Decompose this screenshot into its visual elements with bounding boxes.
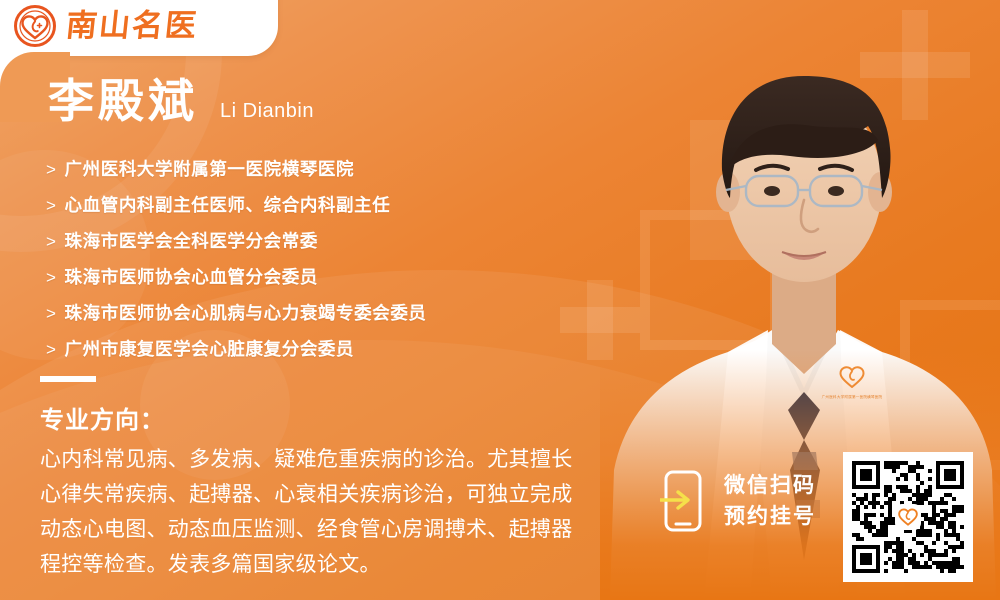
credential-text: 珠海市医师协会心肌病与心力衰竭专委会委员 [65,297,427,332]
phone-scan-arrow-icon [660,470,706,532]
doctor-name-row: 李殿斌 Li Dianbin [48,78,314,124]
section-divider [40,376,96,382]
credential-text: 广州医科大学附属第一医院横琴医院 [65,153,355,188]
bullet-marker: > [46,188,57,223]
doctor-profile-card: 广州医科大学附属第一医院横琴医院 南山名医 李殿斌 Li Dianbin [0,0,1000,600]
credential-text: 珠海市医学会全科医学分会常委 [65,225,318,260]
scan-line-2: 预约挂号 [724,501,816,532]
specialty-body: 心内科常见病、多发病、疑难危重疾病的诊治。尤其擅长 心律失常疾病、起搏器、心衰相… [40,442,652,582]
specialty-line: 心内科常见病、多发病、疑难危重疾病的诊治。尤其擅长 [40,442,652,477]
credential-item: > 珠海市医学会全科医学分会常委 [46,224,427,260]
credential-item: > 广州市康复医学会心脏康复分会委员 [46,332,427,368]
bullet-marker: > [46,296,57,331]
qr-center-logo [895,504,921,530]
specialty-line: 程控等检查。发表多篇国家级论文。 [40,547,652,582]
bullet-marker: > [46,260,57,295]
credential-item: > 珠海市医师协会心血管分会委员 [46,260,427,296]
bullet-marker: > [46,224,57,259]
credential-text: 珠海市医师协会心血管分会委员 [65,261,318,296]
doctor-name-cn: 李殿斌 [48,78,198,124]
specialty-line: 心律失常疾病、起搏器、心衰相关疾病诊治，可独立完成 [40,477,652,512]
credential-item: > 珠海市医师协会心肌病与心力衰竭专委会委员 [46,296,427,332]
heart-logo-icon [898,508,918,526]
credential-text: 广州市康复医学会心脏康复分会委员 [65,333,355,368]
credential-item: > 广州医科大学附属第一医院横琴医院 [46,152,427,188]
wechat-scan-block[interactable]: 微信扫码 预约挂号 [660,470,816,532]
doctor-name-en: Li Dianbin [220,100,314,123]
credential-text: 心血管内科副主任医师、综合内科副主任 [65,189,391,224]
credential-item: > 心血管内科副主任医师、综合内科副主任 [46,188,427,224]
scan-line-1: 微信扫码 [724,470,816,501]
bullet-marker: > [46,152,57,187]
credential-list: > 广州医科大学附属第一医院横琴医院 > 心血管内科副主任医师、综合内科副主任 … [46,152,427,368]
specialty-title: 专业方向： [40,400,165,435]
specialty-line: 动态心电图、动态血压监测、经食管心房调搏术、起搏器 [40,512,652,547]
scan-text: 微信扫码 预约挂号 [724,470,816,532]
bullet-marker: > [46,332,57,367]
profile-content: 李殿斌 Li Dianbin > 广州医科大学附属第一医院横琴医院 > 心血管内… [0,0,680,600]
qr-code-icon[interactable] [843,452,973,582]
